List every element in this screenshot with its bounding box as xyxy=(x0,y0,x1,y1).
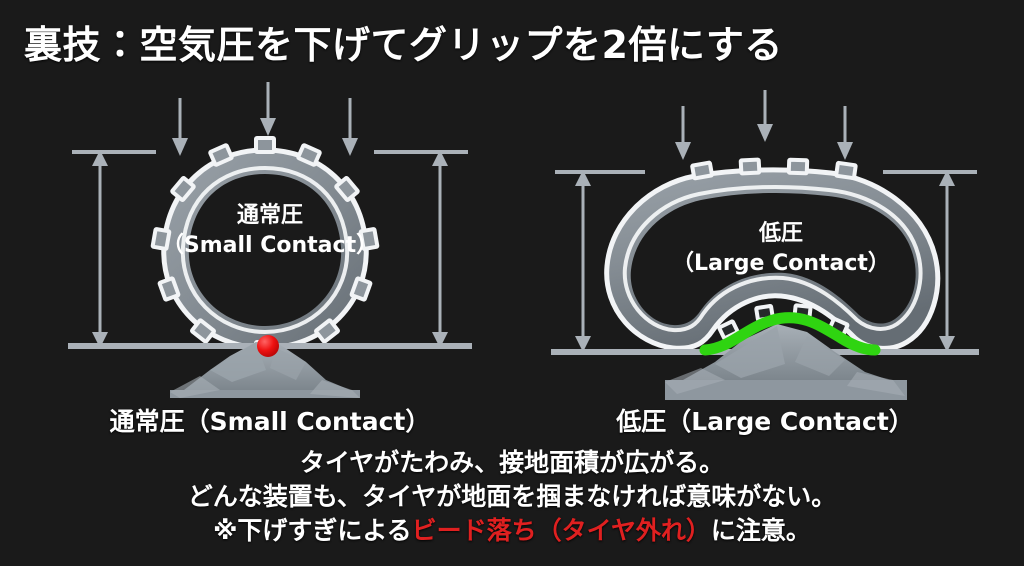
caption-low-pressure: 低圧（Large Contact） xyxy=(545,402,985,438)
dimension-arrow-right xyxy=(939,170,955,352)
low-pressure-label-jp: 低圧 xyxy=(758,221,803,246)
load-arrow-right xyxy=(342,98,358,156)
explanatory-line-1: タイヤがたわみ、接地面積が広がる。 xyxy=(0,446,1024,480)
warning-prefix: ※下げすぎによる xyxy=(213,516,412,545)
diagram-root: 裏技：空気圧を下げてグリップを2倍にする xyxy=(0,0,1024,566)
dimension-arrow-left xyxy=(92,150,108,348)
normal-pressure-diagram: 通常圧 （Small Contact） xyxy=(60,80,480,430)
low-pressure-diagram: 低圧 （Large Contact） xyxy=(545,80,985,430)
load-arrow-left xyxy=(675,106,691,160)
low-pressure-label-en: （Large Contact） xyxy=(672,251,890,276)
dimension-arrow-right xyxy=(432,150,448,348)
caption-normal-pressure: 通常圧（Small Contact） xyxy=(60,402,480,438)
explanatory-line-2: どんな装置も、タイヤが地面を掴まなければ意味がない。 xyxy=(0,480,1024,514)
contact-point-marker xyxy=(257,335,279,357)
load-arrow-right xyxy=(837,106,853,160)
page-title: 裏技：空気圧を下げてグリップを2倍にする xyxy=(24,14,783,69)
normal-pressure-label-en: （Small Contact） xyxy=(162,233,378,258)
load-arrow-center xyxy=(757,90,773,142)
explanatory-line-3: ※下げすぎによるビード落ち（タイヤ外れ）に注意。 xyxy=(0,514,1024,548)
load-arrows-group xyxy=(675,90,853,160)
load-arrow-center xyxy=(260,82,276,136)
explanatory-text-block: タイヤがたわみ、接地面積が広がる。 どんな装置も、タイヤが地面を掴まなければ意味… xyxy=(0,446,1024,548)
load-arrow-left xyxy=(172,98,188,156)
warning-suffix: に注意。 xyxy=(711,516,811,545)
warning-highlight: ビード落ち（タイヤ外れ） xyxy=(412,516,711,545)
dimension-arrow-left xyxy=(575,170,591,352)
normal-pressure-label-jp: 通常圧 xyxy=(237,202,303,228)
